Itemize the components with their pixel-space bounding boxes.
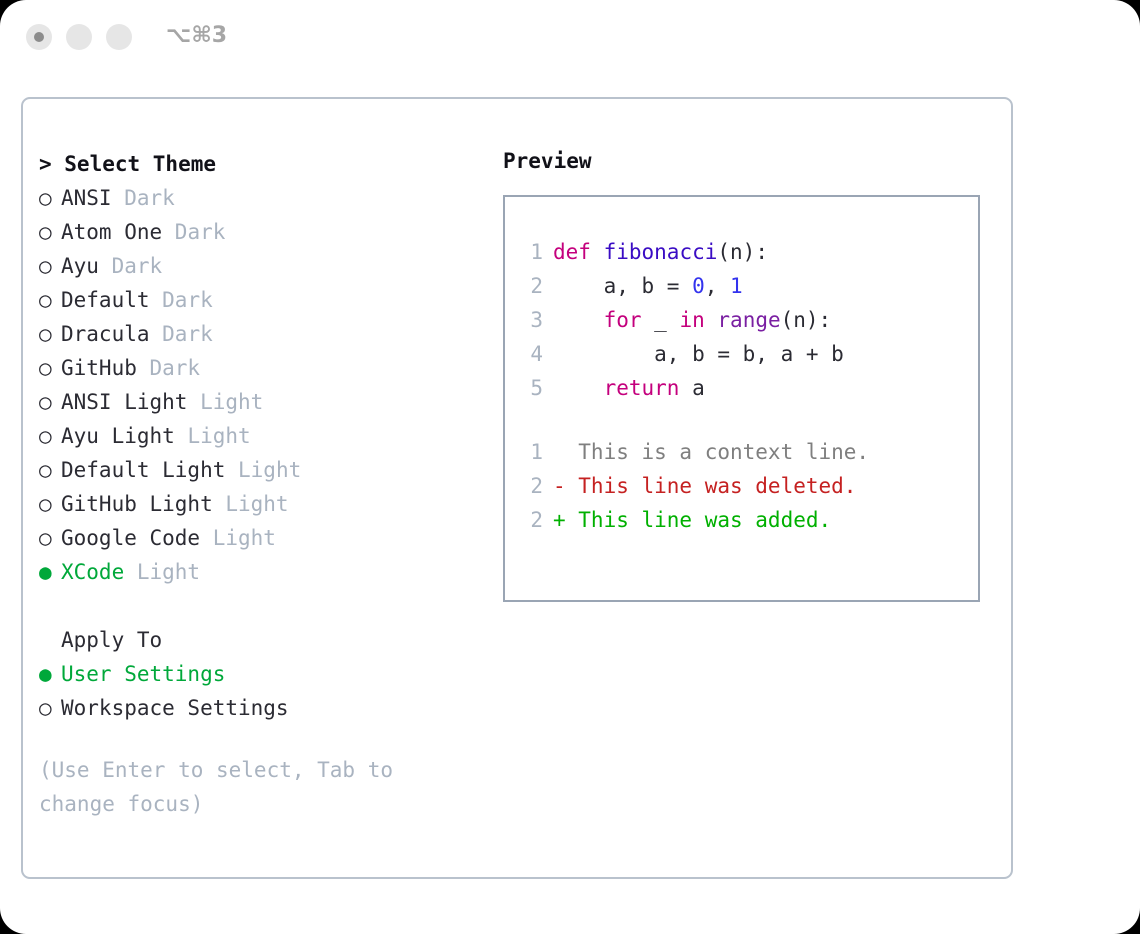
theme-option-row[interactable]: ○GitHub Light Light bbox=[39, 487, 469, 521]
theme-option-label: ANSI Light bbox=[61, 390, 187, 414]
window-dot-third[interactable] bbox=[106, 24, 132, 50]
window-dot-second[interactable] bbox=[66, 24, 92, 50]
code-token bbox=[553, 308, 604, 332]
code-token: (n): bbox=[781, 308, 832, 332]
code-line-number: 4 bbox=[519, 337, 543, 371]
radio-unselected-icon[interactable]: ○ bbox=[39, 181, 61, 215]
theme-option-tag: Light bbox=[124, 560, 200, 584]
radio-unselected-icon[interactable]: ○ bbox=[39, 487, 61, 521]
code-token: a, b = b, a + b bbox=[553, 342, 844, 366]
code-line: 2 a, b = 0, 1 bbox=[505, 269, 978, 303]
diff-line: 2- This line was deleted. bbox=[505, 469, 978, 503]
window-titlebar: ⌥⌘3 bbox=[0, 0, 1140, 78]
theme-option-row[interactable]: ○ANSI Light Light bbox=[39, 385, 469, 419]
window-dot-active[interactable] bbox=[26, 24, 52, 50]
preview-heading: Preview bbox=[503, 147, 993, 175]
theme-option-tag: Light bbox=[200, 526, 276, 550]
theme-option-row[interactable]: ○Google Code Light bbox=[39, 521, 469, 555]
code-token: range bbox=[717, 308, 780, 332]
theme-option-row[interactable]: ○ANSI Dark bbox=[39, 181, 469, 215]
theme-option-tag: Light bbox=[213, 492, 289, 516]
code-token: , bbox=[705, 274, 730, 298]
diff-line-number: 2 bbox=[519, 469, 543, 503]
theme-option-row[interactable]: ○Atom One Dark bbox=[39, 215, 469, 249]
theme-option-label: ANSI bbox=[61, 186, 112, 210]
code-line: 5 return a bbox=[505, 371, 978, 405]
keyboard-hint-text: (Use Enter to select, Tab to change focu… bbox=[39, 753, 459, 821]
code-token: return bbox=[604, 376, 680, 400]
radio-unselected-icon[interactable]: ○ bbox=[39, 521, 61, 555]
theme-option-row[interactable]: ○Default Light Light bbox=[39, 453, 469, 487]
theme-option-row[interactable]: ○GitHub Dark bbox=[39, 351, 469, 385]
apply-to-list: ●User Settings○Workspace Settings bbox=[39, 657, 469, 725]
diff-line-number: 2 bbox=[519, 503, 543, 537]
radio-unselected-icon[interactable]: ○ bbox=[39, 385, 61, 419]
app-window: ⌥⌘3 > Select Theme ○ANSI Dark○Atom One D… bbox=[0, 0, 1140, 934]
code-token: in bbox=[679, 308, 704, 332]
hint-spacer bbox=[39, 725, 469, 747]
theme-picker-column: > Select Theme ○ANSI Dark○Atom One Dark○… bbox=[39, 147, 469, 821]
main-panel: > Select Theme ○ANSI Dark○Atom One Dark○… bbox=[21, 97, 1013, 879]
theme-option-label: GitHub bbox=[61, 356, 137, 380]
radio-unselected-icon[interactable]: ○ bbox=[39, 249, 61, 283]
radio-selected-icon[interactable]: ● bbox=[39, 555, 61, 589]
theme-option-row[interactable]: ○Dracula Dark bbox=[39, 317, 469, 351]
diff-line: 1 This is a context line. bbox=[505, 435, 978, 469]
radio-unselected-icon[interactable]: ○ bbox=[39, 351, 61, 385]
theme-option-label: Default Light bbox=[61, 458, 225, 482]
theme-option-tag: Light bbox=[187, 390, 263, 414]
apply-to-heading: Apply To bbox=[39, 623, 469, 657]
select-theme-heading: > Select Theme bbox=[39, 147, 469, 181]
theme-option-label: Atom One bbox=[61, 220, 162, 244]
radio-unselected-icon[interactable]: ○ bbox=[39, 419, 61, 453]
code-token: fibonacci bbox=[604, 240, 718, 264]
radio-selected-icon[interactable]: ● bbox=[39, 657, 61, 691]
theme-list: ○ANSI Dark○Atom One Dark○Ayu Dark○Defaul… bbox=[39, 181, 469, 589]
code-token: (n): bbox=[717, 240, 768, 264]
code-token: a bbox=[679, 376, 704, 400]
diff-line: 2+ This line was added. bbox=[505, 503, 978, 537]
diff-line-text: + This line was added. bbox=[553, 508, 831, 532]
preview-box: 1def fibonacci(n):2 a, b = 0, 13 for _ i… bbox=[503, 195, 980, 602]
apply-to-option-row[interactable]: ●User Settings bbox=[39, 657, 469, 691]
theme-option-tag: Light bbox=[175, 424, 251, 448]
theme-option-tag: Dark bbox=[150, 288, 213, 312]
apply-to-option-label: Workspace Settings bbox=[61, 696, 289, 720]
code-token: def bbox=[553, 240, 591, 264]
code-line: 4 a, b = b, a + b bbox=[505, 337, 978, 371]
code-line-number: 2 bbox=[519, 269, 543, 303]
theme-option-row[interactable]: ○Ayu Light Light bbox=[39, 419, 469, 453]
code-token: for bbox=[604, 308, 642, 332]
keyboard-shortcut-label: ⌥⌘3 bbox=[166, 23, 227, 48]
window-dot-active-indicator bbox=[34, 32, 44, 42]
preview-column: Preview 1def fibonacci(n):2 a, b = 0, 13… bbox=[503, 147, 993, 602]
code-line-number: 3 bbox=[519, 303, 543, 337]
code-token bbox=[705, 308, 718, 332]
section-spacer bbox=[39, 589, 469, 623]
theme-option-tag: Dark bbox=[162, 220, 225, 244]
theme-option-tag: Dark bbox=[112, 186, 175, 210]
radio-unselected-icon[interactable]: ○ bbox=[39, 283, 61, 317]
theme-option-tag: Dark bbox=[137, 356, 200, 380]
theme-option-tag: Dark bbox=[99, 254, 162, 278]
apply-to-option-row[interactable]: ○Workspace Settings bbox=[39, 691, 469, 725]
theme-option-label: Dracula bbox=[61, 322, 150, 346]
code-diff-spacer bbox=[505, 405, 978, 435]
diff-line-text: This is a context line. bbox=[553, 440, 869, 464]
radio-unselected-icon[interactable]: ○ bbox=[39, 453, 61, 487]
apply-to-heading-label: Apply To bbox=[61, 628, 162, 652]
diff-sample: 1 This is a context line.2- This line wa… bbox=[505, 435, 978, 537]
code-token: 1 bbox=[730, 274, 743, 298]
code-line-number: 1 bbox=[519, 235, 543, 269]
code-token bbox=[553, 376, 604, 400]
code-token: a, b = bbox=[553, 274, 692, 298]
theme-option-label: Google Code bbox=[61, 526, 200, 550]
theme-option-label: XCode bbox=[61, 560, 124, 584]
theme-option-tag: Dark bbox=[150, 322, 213, 346]
theme-option-label: Default bbox=[61, 288, 150, 312]
code-token: _ bbox=[642, 308, 680, 332]
code-sample: 1def fibonacci(n):2 a, b = 0, 13 for _ i… bbox=[505, 235, 978, 405]
theme-option-row[interactable]: ○Ayu Dark bbox=[39, 249, 469, 283]
code-line-number: 5 bbox=[519, 371, 543, 405]
apply-to-option-label: User Settings bbox=[61, 662, 225, 686]
theme-option-row[interactable]: ○Default Dark bbox=[39, 283, 469, 317]
theme-option-label: Ayu bbox=[61, 254, 99, 278]
code-token: 0 bbox=[692, 274, 705, 298]
apply-to-heading-indent bbox=[39, 623, 61, 657]
theme-option-label: GitHub Light bbox=[61, 492, 213, 516]
radio-unselected-icon[interactable]: ○ bbox=[39, 691, 61, 725]
theme-option-tag: Light bbox=[225, 458, 301, 482]
diff-line-number: 1 bbox=[519, 435, 543, 469]
radio-unselected-icon[interactable]: ○ bbox=[39, 215, 61, 249]
diff-line-text: - This line was deleted. bbox=[553, 474, 856, 498]
code-token bbox=[591, 240, 604, 264]
code-line: 1def fibonacci(n): bbox=[505, 235, 978, 269]
code-line: 3 for _ in range(n): bbox=[505, 303, 978, 337]
theme-option-row[interactable]: ●XCode Light bbox=[39, 555, 469, 589]
theme-option-label: Ayu Light bbox=[61, 424, 175, 448]
radio-unselected-icon[interactable]: ○ bbox=[39, 317, 61, 351]
